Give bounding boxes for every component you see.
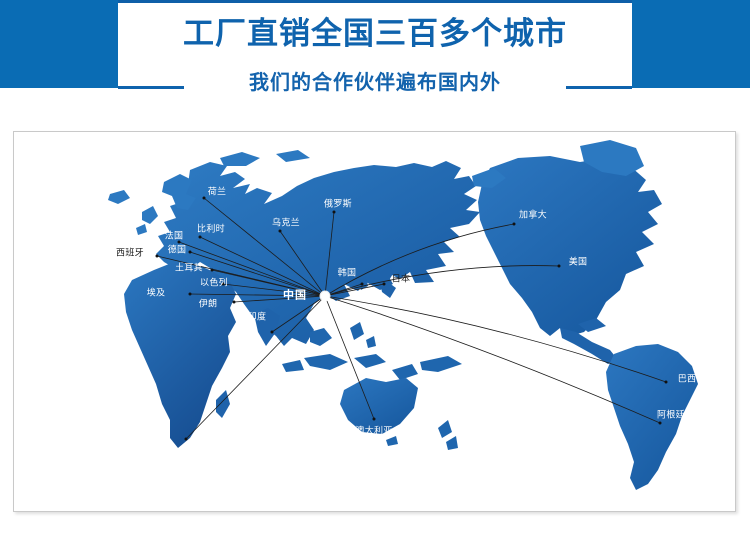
tasmania-landmass <box>386 436 398 446</box>
destination-label-土耳其: 土耳其 <box>175 264 203 275</box>
destination-label-韩国: 韩国 <box>338 269 357 280</box>
destination-label-阿根廷: 阿根廷 <box>657 411 685 422</box>
destination-label-乌克兰: 乌克兰 <box>272 219 300 230</box>
destination-dot-澳大利亚[interactable] <box>373 418 376 421</box>
page-title: 工厂直销全国三百多个城市 <box>118 14 632 54</box>
destination-dot-阿根廷[interactable] <box>659 422 662 425</box>
destination-dot-伊朗[interactable] <box>233 301 236 304</box>
destination-label-荷兰: 荷兰 <box>208 188 227 199</box>
destination-dot-韩国[interactable] <box>361 283 364 286</box>
destination-label-西班牙: 西班牙 <box>116 249 144 260</box>
destination-label-日本: 日本 <box>392 275 411 286</box>
north-america-landmass <box>478 156 662 336</box>
destination-dot-西班牙[interactable] <box>156 255 159 258</box>
destination-label-德国: 德国 <box>168 246 187 257</box>
hub-marker-china[interactable] <box>321 292 330 301</box>
british-isles-landmass <box>136 206 158 235</box>
world-map-svg <box>14 132 737 511</box>
destination-label-加拿大: 加拿大 <box>519 211 547 222</box>
map-panel: 中国 荷兰 俄罗斯 乌克兰 比利时 法国 德国 西班牙 土耳其 以色列 埃及 伊… <box>13 131 736 512</box>
map-stage: 中国 荷兰 俄罗斯 乌克兰 比利时 法国 德国 西班牙 土耳其 以色列 埃及 伊… <box>14 132 737 511</box>
destination-dot-德国[interactable] <box>189 251 192 254</box>
hub-label-china: 中国 <box>283 290 307 301</box>
arctic-islands-landmass <box>220 150 310 166</box>
destination-dot-日本[interactable] <box>383 283 386 286</box>
destination-dot-埃及[interactable] <box>189 293 192 296</box>
philippines-landmass <box>350 322 376 348</box>
destination-dot-巴西[interactable] <box>665 381 668 384</box>
landmass-group <box>108 140 698 490</box>
destination-dot-俄罗斯[interactable] <box>333 211 336 214</box>
destination-dot-乌克兰[interactable] <box>279 230 282 233</box>
destination-dot-印度[interactable] <box>271 331 274 334</box>
destination-dot-美国[interactable] <box>558 265 561 268</box>
destination-label-法国: 法国 <box>165 232 184 243</box>
destination-label-印度: 印度 <box>248 313 267 324</box>
destination-label-埃及: 埃及 <box>147 289 166 300</box>
central-america-landmass <box>560 328 618 364</box>
destination-label-伊朗: 伊朗 <box>199 300 218 311</box>
iceland-landmass <box>108 190 130 204</box>
destination-label-以色列: 以色列 <box>200 279 228 290</box>
destination-label-比利时: 比利时 <box>197 225 225 236</box>
destination-dot-土耳其[interactable] <box>211 269 214 272</box>
destination-dot-荷兰[interactable] <box>203 197 206 200</box>
destination-label-俄罗斯: 俄罗斯 <box>324 200 352 211</box>
destination-label-巴西: 巴西 <box>678 375 697 386</box>
destination-dot-南非[interactable] <box>185 438 188 441</box>
destination-label-南非: 南非 <box>175 449 194 460</box>
destination-label-美国: 美国 <box>569 258 588 269</box>
page-subtitle: 我们的合作伙伴遍布国内外 <box>118 68 632 96</box>
destination-label-澳大利亚: 澳大利亚 <box>355 427 392 438</box>
africa-landmass <box>124 262 236 448</box>
destination-dot-比利时[interactable] <box>199 236 202 239</box>
new-guinea-landmass <box>420 356 462 372</box>
new-zealand-landmass <box>438 420 458 450</box>
madagascar-landmass <box>216 390 230 418</box>
destination-dot-加拿大[interactable] <box>513 223 516 226</box>
